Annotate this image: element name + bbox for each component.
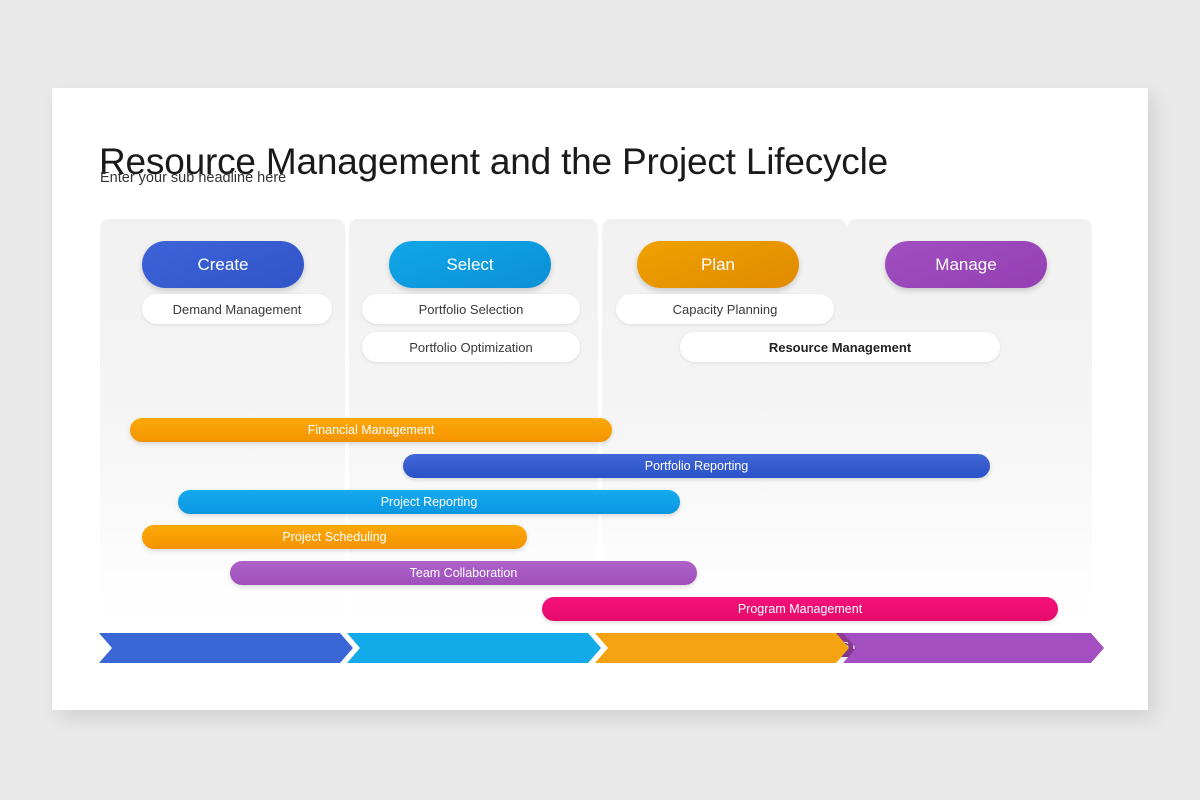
capability-bar-project-scheduling[interactable]: Project Scheduling [142,525,527,549]
capability-bar-label: Team Collaboration [410,566,518,580]
timeline-arrow-manage[interactable] [843,633,1104,663]
phase-button-create[interactable]: Create [142,241,304,288]
sub-item-resource-management[interactable]: Resource Management [680,332,1000,362]
sub-item-demand-management[interactable]: Demand Management [142,294,332,324]
timeline-arrow-select[interactable] [347,633,601,663]
capability-bar-label: Program Management [738,602,862,616]
capability-bar-program-management[interactable]: Program Management [542,597,1058,621]
sub-item-label: Capacity Planning [673,302,778,317]
sub-item-capacity-planning[interactable]: Capacity Planning [616,294,834,324]
timeline-arrow-plan[interactable] [595,633,849,663]
phase-button-plan[interactable]: Plan [637,241,799,288]
sub-item-portfolio-optimization[interactable]: Portfolio Optimization [362,332,580,362]
capability-bar-label: Portfolio Reporting [645,459,749,473]
slide-card: Resource Management and the Project Life… [52,88,1148,710]
sub-item-label: Portfolio Optimization [409,340,533,355]
sub-item-label: Demand Management [173,302,302,317]
capability-bar-label: Project Reporting [381,495,478,509]
phase-button-manage[interactable]: Manage [885,241,1047,288]
sub-item-label: Resource Management [769,340,911,355]
timeline-arrow-create[interactable] [99,633,353,663]
phase-button-label: Select [446,255,493,275]
phase-button-label: Manage [935,255,996,275]
timeline-arrow-shape [595,633,849,663]
lifecycle-diagram: CreateDemand ManagementSelectPortfolio S… [52,88,1148,710]
capability-bar-label: Project Scheduling [282,530,386,544]
phase-button-select[interactable]: Select [389,241,551,288]
capability-bar-team-collaboration[interactable]: Team Collaboration [230,561,697,585]
capability-bar-financial-management[interactable]: Financial Management [130,418,612,442]
timeline-arrow-shape [99,633,353,663]
timeline-arrow-shape [347,633,601,663]
capability-bar-label: Financial Management [308,423,434,437]
phase-button-label: Create [197,255,248,275]
capability-bar-portfolio-reporting[interactable]: Portfolio Reporting [403,454,990,478]
timeline-arrow-shape [843,633,1104,663]
sub-item-label: Portfolio Selection [419,302,524,317]
capability-bar-project-reporting[interactable]: Project Reporting [178,490,680,514]
phase-button-label: Plan [701,255,735,275]
sub-item-portfolio-selection[interactable]: Portfolio Selection [362,294,580,324]
